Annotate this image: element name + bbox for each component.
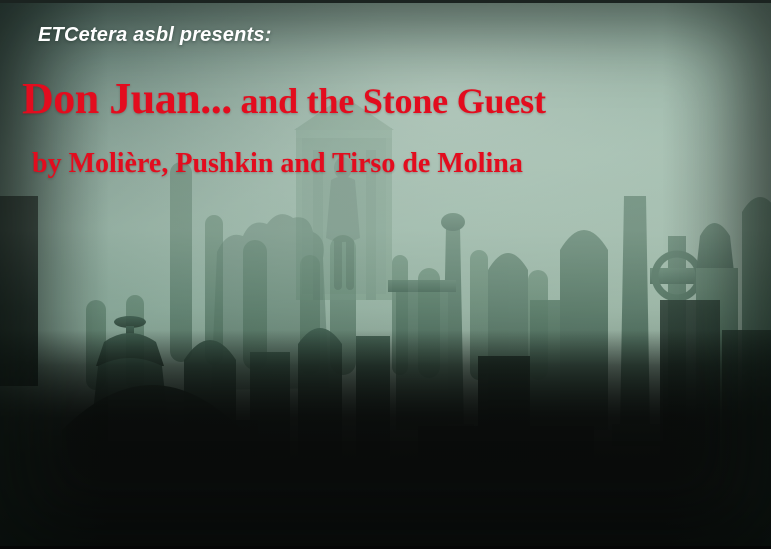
title-rest: and the Stone Guest [232,81,546,121]
title-main: Don Juan... [22,74,232,123]
authors-byline: by Molière, Pushkin and Tirso de Molina [32,148,523,180]
presenter-line: ETCetera asbl presents: [38,24,272,47]
poster-title: Don Juan... and the Stone Guest [22,73,546,124]
poster-canvas: ETCetera asbl presents: Don Juan... and … [0,0,771,549]
top-border [0,0,771,3]
